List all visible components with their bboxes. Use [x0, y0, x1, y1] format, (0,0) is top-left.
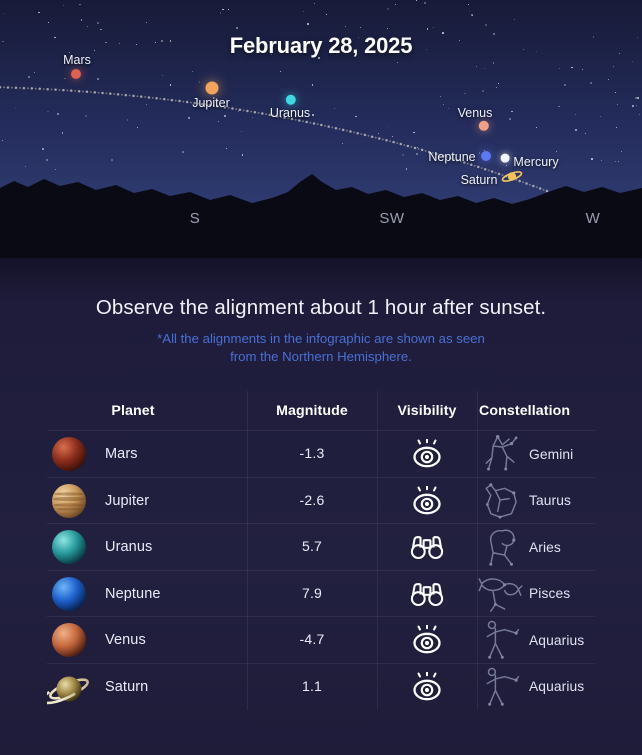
table-body: PlanetMagnitudeVisibilityConstellationMa… [47, 391, 595, 710]
constellation-name: Gemini [529, 447, 573, 462]
taurus-glyph [477, 479, 523, 523]
cell-visibility [377, 439, 477, 469]
note-line-1: *All the alignments in the infographic a… [0, 330, 642, 348]
ecliptic-dot [389, 140, 391, 142]
ecliptic-dot [86, 91, 89, 94]
ecliptic-dot [378, 137, 381, 140]
ecliptic-dot [171, 99, 174, 102]
ecliptic-dot [313, 122, 316, 125]
ecliptic-dot [27, 87, 29, 89]
sky-label-uranus: Uranus [270, 106, 310, 120]
ecliptic-dot [163, 98, 166, 101]
ecliptic-dot [261, 112, 264, 115]
ecliptic-dot [15, 87, 18, 90]
magnitude-value: -2.6 [300, 492, 325, 508]
ecliptic-dot [132, 95, 135, 98]
ecliptic-dot [400, 143, 403, 146]
ecliptic-dot [74, 90, 76, 92]
ecliptic-dot [324, 125, 326, 127]
ecliptic-dot [246, 110, 249, 113]
sky-label-jupiter: Jupiter [192, 96, 230, 110]
table-row[interactable]: Saturn1.1Aquarius [47, 664, 595, 711]
ecliptic-dot [54, 88, 57, 91]
column-header-constellation: Constellation [477, 403, 595, 419]
planet-name: Venus [105, 632, 146, 648]
ecliptic-dot [239, 109, 242, 112]
ecliptic-dot [159, 98, 161, 100]
cell-planet: Uranus [47, 525, 247, 569]
cell-visibility [377, 625, 477, 655]
ecliptic-dot [43, 88, 45, 90]
ecliptic-dot [109, 92, 112, 95]
constellation-name: Aquarius [529, 679, 584, 694]
ecliptic-dot [35, 88, 37, 90]
planet-name: Jupiter [105, 493, 149, 509]
table-row[interactable]: Jupiter-2.6Taurus [47, 478, 595, 525]
ecliptic-dot [3, 86, 5, 88]
cell-magnitude: 5.7 [247, 538, 377, 556]
magnitude-value: 7.9 [302, 585, 322, 601]
ecliptic-dot [364, 134, 367, 137]
magnitude-value: -1.3 [300, 445, 325, 461]
ecliptic-dot [243, 109, 245, 111]
planet-thumb-jupiter [47, 479, 91, 523]
ecliptic-dot [331, 126, 333, 128]
ecliptic-dot [335, 127, 338, 130]
ecliptic-dot [407, 145, 410, 148]
ecliptic-dot [23, 87, 26, 90]
cell-constellation: Aquarius [477, 618, 595, 662]
ecliptic-dot [59, 89, 61, 91]
ecliptic-dot [309, 122, 311, 124]
aries-glyph [477, 525, 523, 569]
ecliptic-dot [148, 96, 151, 99]
ecliptic-dot [396, 142, 398, 144]
ecliptic-dot [121, 94, 123, 96]
ecliptic-dot [31, 87, 34, 90]
info-panel: Observe the alignment about 1 hour after… [0, 258, 642, 755]
ecliptic-dot [140, 95, 143, 98]
ecliptic-dot [342, 129, 345, 132]
ecliptic-dot [105, 92, 107, 94]
cell-constellation: Gemini [477, 432, 595, 476]
table-row[interactable]: Neptune7.9Pisces [47, 571, 595, 618]
cell-planet: Neptune [47, 572, 247, 616]
ecliptic-dot [356, 132, 359, 135]
ecliptic-dot [182, 101, 184, 103]
ecliptic-dot [0, 86, 1, 89]
compass-label-s: S [190, 210, 201, 227]
ecliptic-dot [62, 89, 65, 92]
planet-thumb-saturn [47, 665, 91, 709]
ecliptic-dot [175, 100, 177, 102]
cell-constellation: Aries [477, 525, 595, 569]
ecliptic-dot [317, 123, 319, 125]
ecliptic-dot [19, 87, 21, 89]
pisces-glyph [477, 572, 523, 616]
aquarius-glyph [477, 665, 523, 709]
planet-name: Neptune [105, 586, 161, 602]
ecliptic-dot [129, 95, 131, 97]
table-row[interactable]: Venus-4.7Aquarius [47, 617, 595, 664]
planet-thumb-mars [47, 432, 91, 476]
ecliptic-dot [349, 130, 352, 133]
constellation-name: Pisces [529, 586, 570, 601]
ecliptic-dot [392, 141, 395, 144]
table-header-row: PlanetMagnitudeVisibilityConstellation [47, 391, 595, 431]
ecliptic-dot [371, 135, 374, 138]
cell-magnitude: 1.1 [247, 678, 377, 696]
ecliptic-dot [93, 91, 96, 94]
constellation-name: Aries [529, 540, 561, 555]
planet-name: Mars [105, 446, 138, 462]
ecliptic-dot [302, 120, 304, 122]
cell-magnitude: -2.6 [247, 492, 377, 510]
planet-table: PlanetMagnitudeVisibilityConstellationMa… [47, 391, 595, 710]
compass-label-w: W [586, 210, 601, 227]
cell-planet: Venus [47, 618, 247, 662]
sky-panel: MarsJupiterUranusVenusNeptuneMercurySatu… [0, 0, 642, 258]
ecliptic-dot [117, 93, 120, 96]
ecliptic-dot [265, 113, 267, 115]
planet-thumb-uranus [47, 525, 91, 569]
infographic-page: MarsJupiterUranusVenusNeptuneMercurySatu… [0, 0, 642, 755]
cell-constellation: Pisces [477, 572, 595, 616]
ecliptic-dot [382, 138, 384, 140]
ecliptic-dot [98, 92, 100, 94]
ecliptic-dot [368, 135, 370, 137]
ecliptic-dot [82, 91, 84, 93]
ecliptic-dot [353, 131, 355, 133]
cell-planet: Mars [47, 432, 247, 476]
ecliptic-dot [254, 111, 257, 114]
gemini-glyph [477, 432, 523, 476]
planet-thumb-neptune [47, 572, 91, 616]
table-row[interactable]: Uranus5.7Aries [47, 524, 595, 571]
hemisphere-note: *All the alignments in the infographic a… [0, 330, 642, 366]
ecliptic-dot [178, 100, 181, 103]
cell-visibility [377, 486, 477, 516]
cell-magnitude: -4.7 [247, 631, 377, 649]
note-line-2: from the Northern Hemisphere. [0, 348, 642, 366]
ecliptic-dot [136, 95, 138, 97]
ecliptic-dot [327, 125, 330, 128]
cell-constellation: Taurus [477, 479, 595, 523]
ecliptic-dot [320, 124, 323, 127]
compass-label-sw: SW [379, 210, 404, 227]
ecliptic-dot [7, 86, 9, 89]
sky-planet-mars [71, 69, 81, 79]
binoculars-icon [410, 579, 444, 609]
eye-icon [410, 625, 444, 655]
ecliptic-dot [51, 88, 53, 90]
aquarius-glyph [477, 618, 523, 662]
ecliptic-dot [385, 139, 388, 142]
headline-text: Observe the alignment about 1 hour after… [0, 296, 642, 320]
constellation-name: Taurus [529, 493, 571, 508]
ecliptic-dot [70, 89, 73, 92]
ecliptic-dot [101, 92, 104, 95]
cell-visibility [377, 532, 477, 562]
constellation-name: Aquarius [529, 633, 584, 648]
ecliptic-dot [39, 88, 42, 91]
magnitude-value: 5.7 [302, 538, 322, 554]
eye-icon [410, 672, 444, 702]
cell-constellation: Aquarius [477, 665, 595, 709]
ecliptic-dot [152, 97, 154, 99]
ecliptic-dot [46, 88, 49, 91]
ecliptic-dot [78, 90, 81, 93]
column-header-magnitude: Magnitude [247, 403, 377, 419]
binoculars-icon [410, 532, 444, 562]
ecliptic-dot [258, 112, 260, 114]
ecliptic-dot [66, 89, 68, 91]
eye-icon [410, 486, 444, 516]
cell-magnitude: -1.3 [247, 445, 377, 463]
planet-thumb-venus [47, 618, 91, 662]
cell-visibility [377, 672, 477, 702]
ecliptic-dot [90, 91, 92, 93]
date-title: February 28, 2025 [0, 33, 642, 59]
ecliptic-dot [235, 108, 237, 110]
ecliptic-dot [125, 94, 128, 97]
ecliptic-dot [403, 144, 405, 146]
sky-planet-jupiter [206, 82, 219, 95]
ecliptic-dot [375, 137, 377, 139]
cell-planet: Saturn [47, 665, 247, 709]
ecliptic-dot [231, 107, 234, 110]
mountain-silhouette [0, 148, 642, 258]
ecliptic-dot [305, 121, 308, 124]
column-header-visibility: Visibility [377, 403, 477, 419]
column-header-planet: Planet [47, 403, 247, 419]
ecliptic-dot [167, 99, 169, 101]
magnitude-value: 1.1 [302, 678, 322, 694]
ecliptic-dot [339, 128, 341, 130]
cell-visibility [377, 579, 477, 609]
ecliptic-dot [144, 96, 146, 98]
cell-planet: Jupiter [47, 479, 247, 523]
planet-name: Uranus [105, 539, 152, 555]
ecliptic-dot [250, 111, 252, 113]
eye-icon [410, 439, 444, 469]
cell-magnitude: 7.9 [247, 585, 377, 603]
table-row[interactable]: Mars-1.3Gemini [47, 431, 595, 478]
ecliptic-dot [113, 93, 115, 95]
magnitude-value: -4.7 [300, 631, 325, 647]
ecliptic-dot [11, 87, 13, 89]
ecliptic-dot [360, 133, 362, 135]
ecliptic-dot [155, 97, 158, 100]
planet-name: Saturn [105, 679, 148, 695]
ecliptic-dot [186, 101, 189, 104]
sky-label-venus: Venus [458, 106, 493, 120]
ecliptic-dot [346, 130, 348, 132]
